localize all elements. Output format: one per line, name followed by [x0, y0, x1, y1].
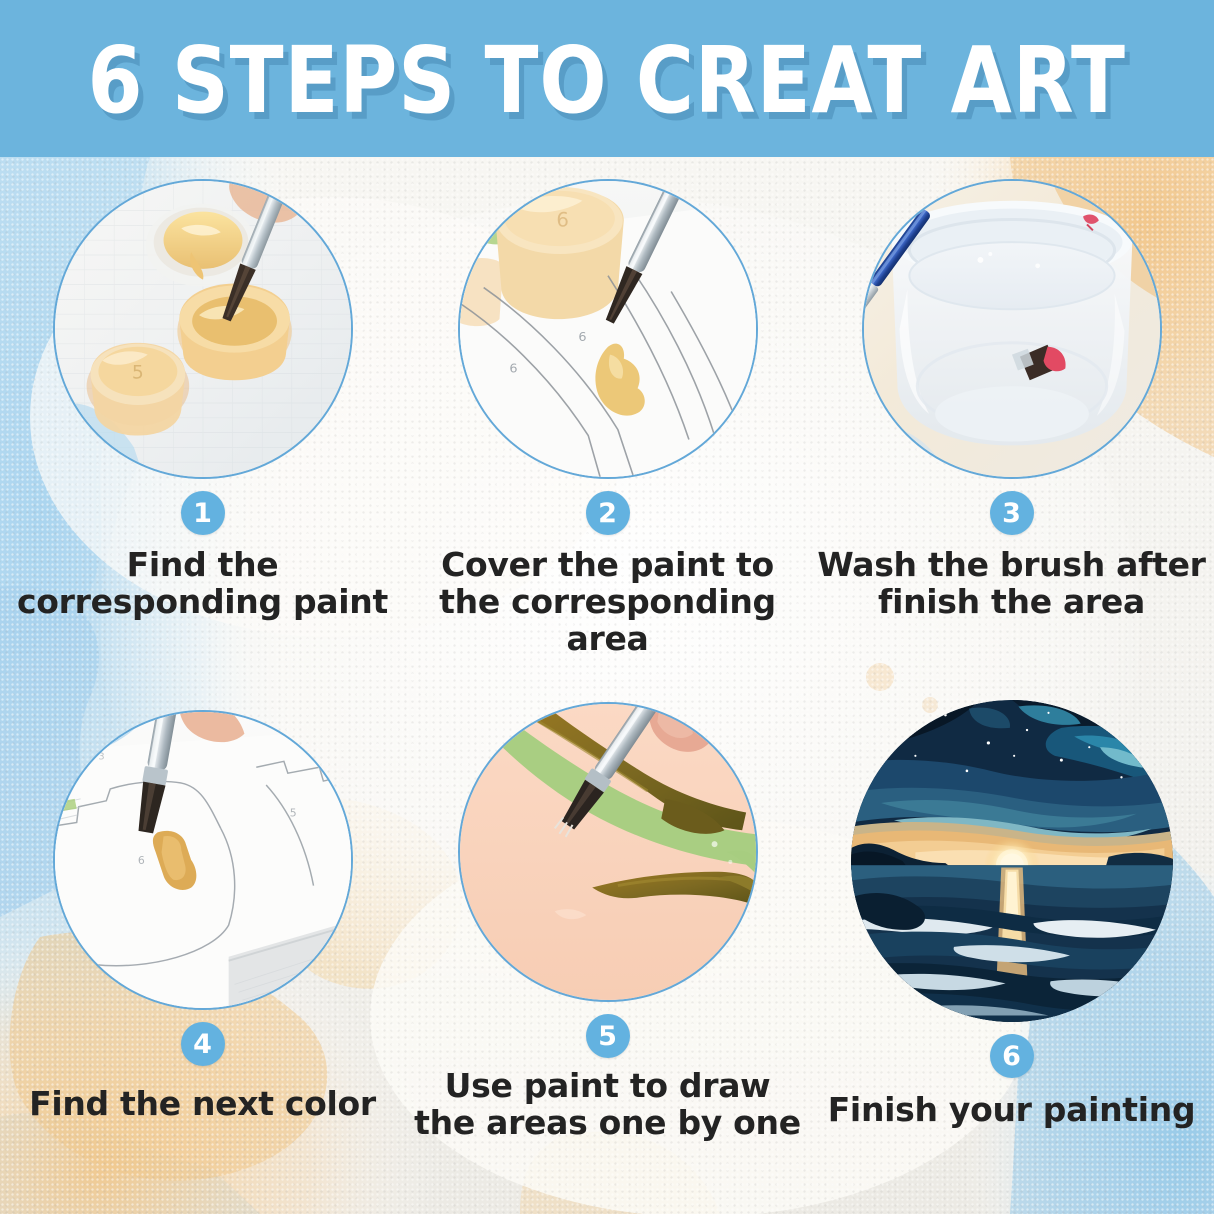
infographic-page: 6 STEPS TO CREAT ART: [0, 0, 1214, 1214]
step-5-badge: 5: [586, 1014, 630, 1058]
step-1-caption-line-1: Find the: [4, 547, 401, 584]
step-3-badge: 3: [990, 491, 1034, 535]
step-3-caption: Wash the brush after finish the area: [809, 547, 1214, 621]
step-1-caption: Find the corresponding paint: [0, 547, 405, 621]
svg-text:6: 6: [578, 330, 586, 345]
svg-text:6: 6: [556, 208, 569, 231]
step-2-caption-line-2: the corresponding area: [409, 584, 806, 658]
step-2-caption-line-1: Cover the paint to: [409, 547, 806, 584]
step-3-caption-line-1: Wash the brush after: [813, 547, 1210, 584]
painting-leaves-illustration: [460, 704, 756, 1000]
step-2-caption: Cover the paint to the corresponding are…: [405, 547, 810, 658]
svg-text:6: 6: [509, 361, 517, 376]
header-banner: 6 STEPS TO CREAT ART: [0, 0, 1214, 157]
step-2: 6 6 6: [405, 179, 810, 658]
finished-sunset-seascape-illustration: [851, 700, 1173, 1022]
step-4-photo: 6 5 3: [53, 710, 353, 1010]
step-1-photo: 5: [53, 179, 353, 479]
svg-text:3: 3: [98, 751, 104, 762]
step-2-badge: 2: [586, 491, 630, 535]
flat-brush-stroke-illustration: 6 5 3: [55, 712, 351, 1008]
svg-text:6: 6: [137, 854, 144, 867]
step-1: 5 1 Find the corresponding paint: [0, 179, 405, 621]
paint-pots-with-brush-illustration: 5: [55, 181, 351, 477]
steps-grid: 5 1 Find the corresponding paint: [0, 157, 1214, 1214]
svg-text:5: 5: [289, 807, 296, 820]
step-1-badge: 1: [181, 491, 225, 535]
step-5-photo: [458, 702, 758, 1002]
page-title: 6 STEPS TO CREAT ART: [88, 35, 1126, 127]
step-5-caption-line-1: Use paint to draw: [409, 1068, 806, 1105]
step-3-photo: [862, 179, 1162, 479]
step-4-caption-line-1: Find the next color: [4, 1086, 401, 1123]
step-4-badge: 4: [181, 1022, 225, 1066]
step-4: 6 5 3: [0, 702, 405, 1123]
step-1-caption-line-2: corresponding paint: [4, 584, 401, 621]
step-5-caption: Use paint to draw the areas one by one: [405, 1068, 810, 1142]
svg-text:5: 5: [131, 362, 143, 383]
step-3: 3 Wash the brush after finish the area: [809, 179, 1214, 621]
step-5-caption-line-2: the areas one by one: [409, 1105, 806, 1142]
step-6-caption-line-1: Finish your painting: [813, 1092, 1210, 1129]
step-5: 5 Use paint to draw the areas one by one: [405, 702, 810, 1142]
step-6-photo: [851, 700, 1173, 1022]
step-6-badge: 6: [990, 1034, 1034, 1078]
brush-applying-paint-illustration: 6 6 6: [460, 181, 756, 477]
step-3-caption-line-2: finish the area: [813, 584, 1210, 621]
step-6: 6 Finish your painting: [809, 702, 1214, 1129]
step-6-caption: Finish your painting: [809, 1092, 1214, 1129]
step-2-photo: 6 6 6: [458, 179, 758, 479]
brush-in-water-glass-illustration: [864, 181, 1160, 477]
step-4-caption: Find the next color: [0, 1086, 405, 1123]
